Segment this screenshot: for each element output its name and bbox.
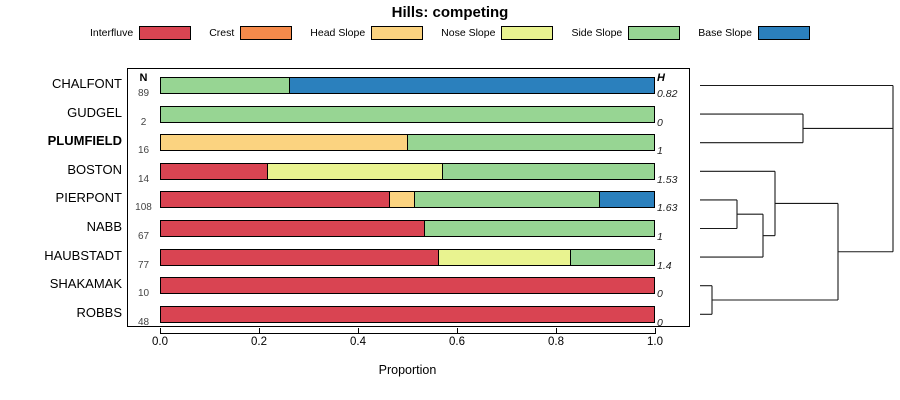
plot-panel [127, 68, 690, 327]
row-category-label: HAUBSTADT [0, 248, 122, 263]
page-title: Hills: competing [0, 4, 900, 21]
x-axis-tick-label: 0.2 [251, 336, 267, 348]
row-category-label: PLUMFIELD [0, 133, 122, 148]
column-header-h: H [657, 72, 687, 84]
x-axis-tick-label: 0.8 [548, 336, 564, 348]
legend-color-swatch [758, 26, 810, 40]
x-axis-tick [259, 328, 260, 334]
legend-item-label: Nose Slope [441, 27, 495, 39]
x-axis-tick [358, 328, 359, 334]
chart-root: Hills: competing InterfluveCrestHead Slo… [0, 0, 900, 400]
row-category-label: CHALFONT [0, 76, 122, 91]
x-axis-tick-label: 0.6 [449, 336, 465, 348]
legend-color-swatch [240, 26, 292, 40]
x-axis-tick-label: 1.0 [647, 336, 663, 348]
row-category-label: BOSTON [0, 162, 122, 177]
x-axis-tick [655, 328, 656, 334]
legend-item-label: Side Slope [571, 27, 622, 39]
x-axis-tick [556, 328, 557, 334]
row-category-label: SHAKAMAK [0, 276, 122, 291]
row-category-label: GUDGEL [0, 105, 122, 120]
x-axis-tick-label: 0.0 [152, 336, 168, 348]
x-axis-line [160, 333, 655, 334]
legend-item: Base Slope [698, 26, 810, 40]
legend-item: Nose Slope [441, 26, 553, 40]
legend-item: Interfluve [90, 26, 191, 40]
legend-color-swatch [501, 26, 553, 40]
x-axis-tick [457, 328, 458, 334]
legend-color-swatch [139, 26, 191, 40]
x-axis-tick [160, 328, 161, 334]
legend-item-label: Head Slope [310, 27, 365, 39]
dendrogram [690, 68, 900, 327]
legend-item: Side Slope [571, 26, 680, 40]
x-axis-tick-label: 0.4 [350, 336, 366, 348]
row-category-label: NABB [0, 219, 122, 234]
legend-item-label: Crest [209, 27, 234, 39]
row-category-label: ROBBS [0, 305, 122, 320]
legend-item-label: Interfluve [90, 27, 133, 39]
column-header-n: N [130, 72, 157, 84]
legend-color-swatch [371, 26, 423, 40]
legend-item: Head Slope [310, 26, 423, 40]
legend-item-label: Base Slope [698, 27, 752, 39]
row-category-label: PIERPONT [0, 190, 122, 205]
legend-color-swatch [628, 26, 680, 40]
x-axis-label: Proportion [160, 363, 655, 377]
legend-item: Crest [209, 26, 292, 40]
legend: InterfluveCrestHead SlopeNose SlopeSide … [0, 26, 900, 40]
